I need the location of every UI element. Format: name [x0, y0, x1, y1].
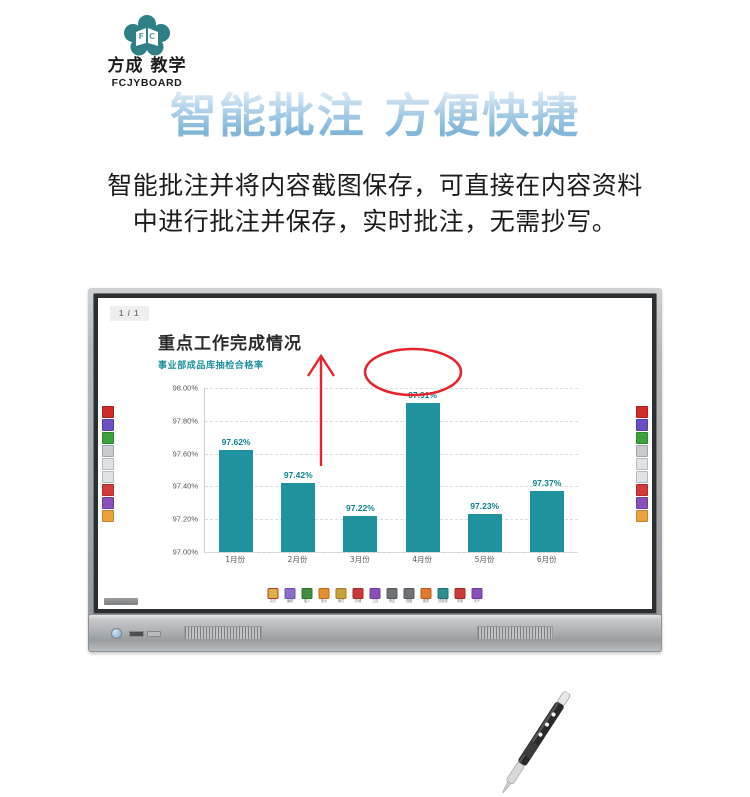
bar-column: 97.22%	[343, 388, 377, 552]
bar	[343, 516, 377, 552]
bar-column: 97.42%	[281, 388, 315, 552]
bar	[468, 514, 502, 552]
more-tool-icon[interactable]	[102, 510, 114, 522]
align-button[interactable]: 规定	[386, 588, 399, 603]
toolbar-item-label: 图表	[423, 600, 429, 603]
toolbar-item-label: 格式	[338, 600, 344, 603]
brand-name-cn: 方成 教学	[108, 58, 187, 75]
chart-icon	[421, 588, 432, 599]
bar-series: 97.62%97.42%97.22%97.91%97.23%97.37%	[205, 388, 578, 552]
chart-subtitle: 事业部成品库抽检合格率	[158, 362, 578, 371]
save-button[interactable]: 存储	[352, 588, 365, 603]
x-tick-label: 2月份	[280, 554, 314, 570]
marker-tool-icon[interactable]	[102, 419, 114, 431]
toolbar-item-label: 编辑	[287, 600, 293, 603]
bar	[219, 450, 253, 552]
usb-port	[129, 631, 144, 637]
bar-value-label: 97.37%	[532, 478, 561, 488]
y-tick-label: 97.20%	[173, 515, 198, 524]
save-tool-icon[interactable]	[636, 484, 648, 496]
redo-tool-icon[interactable]	[102, 471, 114, 483]
chart-title: 重点工作完成情况	[158, 336, 578, 353]
page-headline: 智能批注 方便快捷	[0, 90, 750, 144]
undo-tool-icon[interactable]	[636, 458, 648, 470]
zoom-in-button[interactable]: 放大	[318, 588, 331, 603]
right-speaker-grille	[477, 626, 553, 640]
bar-value-label: 97.62%	[222, 437, 251, 447]
toolbar-item-label: 规定	[389, 600, 395, 603]
x-axis: 1月份2月份3月份4月份5月份6月份	[204, 554, 578, 570]
x-tick-label: 3月份	[343, 554, 377, 570]
highlighter-tool-icon[interactable]	[102, 432, 114, 444]
align-icon	[387, 588, 398, 599]
file-icon	[268, 588, 279, 599]
insert-icon	[302, 588, 313, 599]
toolbar-item-label: 存储	[355, 600, 361, 603]
bar-value-label: 97.91%	[408, 390, 437, 400]
y-tick-label: 98.00%	[173, 384, 198, 393]
bar	[281, 483, 315, 552]
save-icon	[353, 588, 364, 599]
pen-tool-icon[interactable]	[102, 406, 114, 418]
format-button[interactable]: 格式	[335, 588, 348, 603]
bar-value-label: 97.22%	[346, 503, 375, 513]
zoom-in-icon	[319, 588, 330, 599]
bar	[406, 403, 440, 552]
pen-tool-icon[interactable]	[636, 406, 648, 418]
eraser-tool-icon[interactable]	[102, 445, 114, 457]
bar-column: 97.62%	[219, 388, 253, 552]
x-tick-label: 6月份	[530, 554, 564, 570]
subtitle-line-2: 中进行批注并保存，实时批注，无需抄写。	[0, 204, 750, 240]
palette-tool-icon[interactable]	[636, 497, 648, 509]
interactive-whiteboard-device: 1 / 1 重点工作完成情况 事业部成品库抽检合格率 98.00%97.80%9…	[88, 288, 662, 654]
y-axis: 98.00%97.80%97.60%97.40%97.20%97.00%	[158, 388, 202, 552]
help-icon	[455, 588, 466, 599]
toolbar-item-label: 帮助	[457, 600, 463, 603]
insert-button[interactable]: 插入	[301, 588, 314, 603]
tool-button[interactable]: 工具	[369, 588, 382, 603]
brand-logo: F C 方成 教学 FCJYBOARD	[72, 14, 222, 86]
stylus-pen-icon	[496, 689, 573, 797]
y-tick-label: 97.00%	[173, 548, 198, 557]
help-button[interactable]: 帮助	[454, 588, 467, 603]
layout-icon	[404, 588, 415, 599]
page-subtitle: 智能批注并将内容截图保存，可直接在内容资料 中进行批注并保存，实时批注，无需抄写…	[0, 168, 750, 241]
palette-tool-icon[interactable]	[102, 497, 114, 509]
y-tick-label: 97.80%	[173, 416, 198, 425]
toolbar-item-label: 视图	[406, 600, 412, 603]
x-tick-label: 4月份	[405, 554, 439, 570]
redo-tool-icon[interactable]	[636, 471, 648, 483]
format-icon	[336, 588, 347, 599]
bar-column: 97.23%	[468, 388, 502, 552]
toolbar-item-label: 工具	[372, 600, 378, 603]
aux-port	[147, 631, 161, 637]
marker-tool-icon[interactable]	[636, 419, 648, 431]
undo-tool-icon[interactable]	[102, 458, 114, 470]
power-button[interactable]	[111, 628, 122, 639]
toolbar-item-label: 透视表	[438, 600, 448, 603]
save-tool-icon[interactable]	[102, 484, 114, 496]
bar	[530, 491, 564, 552]
table-icon	[438, 588, 449, 599]
y-tick-label: 97.60%	[173, 449, 198, 458]
chart-button[interactable]: 图表	[420, 588, 433, 603]
layout-button[interactable]: 视图	[403, 588, 416, 603]
chart-container: 重点工作完成情况 事业部成品库抽检合格率 98.00%97.80%97.60%9…	[158, 336, 578, 574]
svg-text:C: C	[149, 32, 155, 41]
display-bezel: 1 / 1 重点工作完成情况 事业部成品库抽检合格率 98.00%97.80%9…	[88, 288, 662, 618]
whiteboard-screen[interactable]: 1 / 1 重点工作完成情况 事业部成品库抽检合格率 98.00%97.80%9…	[98, 298, 652, 609]
eraser-tool-icon[interactable]	[636, 445, 648, 457]
bar-value-label: 97.42%	[284, 470, 313, 480]
brand-name-en: FCJYBOARD	[112, 78, 183, 89]
about-icon	[472, 588, 483, 599]
bar-value-label: 97.23%	[470, 501, 499, 511]
flower-book-logo-icon: F C	[124, 14, 170, 56]
subtitle-line-1: 智能批注并将内容截图保存，可直接在内容资料	[0, 168, 750, 204]
more-tool-icon[interactable]	[636, 510, 648, 522]
about-button[interactable]: 关于	[471, 588, 484, 603]
toolbar-item-label: 文件	[270, 600, 276, 603]
tool-icon	[370, 588, 381, 599]
highlighter-tool-icon[interactable]	[636, 432, 648, 444]
toolbar-item-label: 关于	[474, 600, 480, 603]
toolbar-item-label: 插入	[304, 600, 310, 603]
plot-grid: 97.62%97.42%97.22%97.91%97.23%97.37%	[204, 388, 578, 553]
bottom-toolbar[interactable]: 文件编辑插入放大格式存储工具规定视图图表透视表帮助关于	[267, 588, 484, 603]
page-indicator: 1 / 1	[110, 306, 149, 321]
file-button[interactable]: 文件	[267, 588, 280, 603]
bar-column: 97.37%	[530, 388, 564, 552]
toolbar-item-label: 放大	[321, 600, 327, 603]
edit-button[interactable]: 编辑	[284, 588, 297, 603]
x-tick-label: 1月份	[218, 554, 252, 570]
y-tick-label: 97.40%	[173, 482, 198, 491]
right-tool-sidebar[interactable]	[636, 406, 648, 522]
gridline	[205, 552, 578, 553]
edit-icon	[285, 588, 296, 599]
left-tool-sidebar[interactable]	[102, 406, 114, 522]
bar-column: 97.91%	[406, 388, 440, 552]
left-speaker-grille	[184, 626, 262, 640]
chart-plot: 98.00%97.80%97.60%97.40%97.20%97.00% 97.…	[158, 388, 578, 574]
display-inner-frame: 1 / 1 重点工作完成情况 事业部成品库抽检合格率 98.00%97.80%9…	[93, 293, 657, 614]
x-tick-label: 5月份	[467, 554, 501, 570]
device-base	[88, 614, 662, 652]
svg-text:F: F	[139, 32, 144, 41]
table-button[interactable]: 透视表	[437, 588, 450, 603]
status-chip	[104, 598, 138, 605]
